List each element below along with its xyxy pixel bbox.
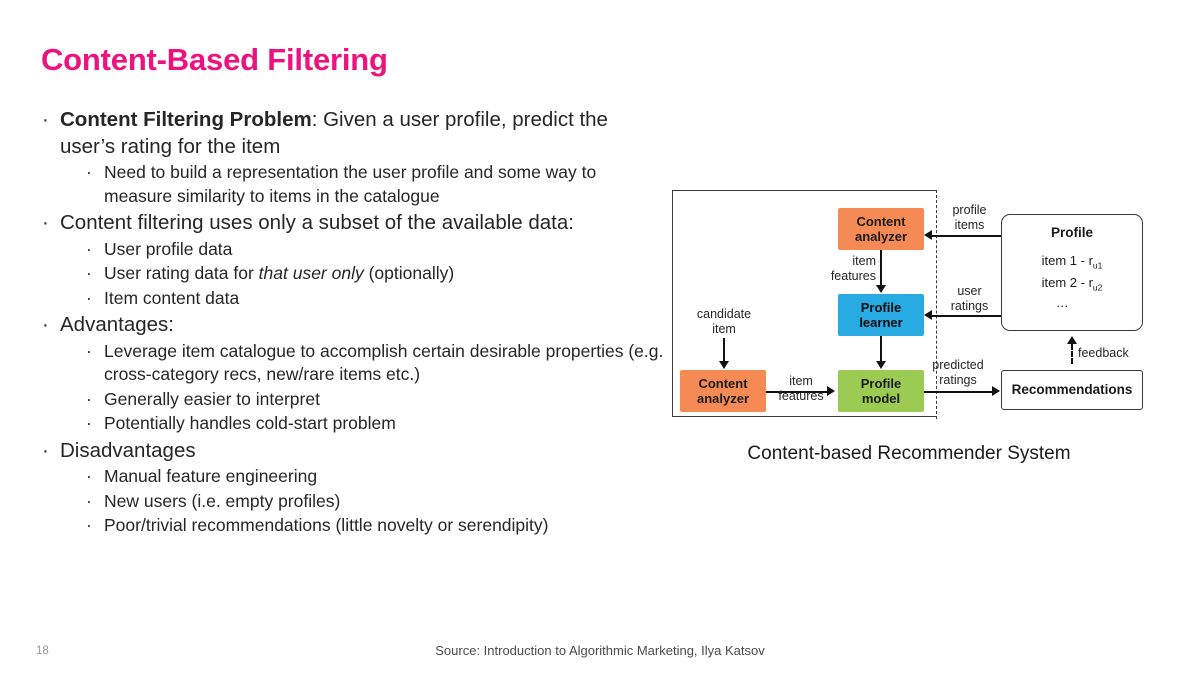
diagram-caption: Content-based Recommender System (670, 443, 1148, 465)
bullet-level2-leverage-catalogue: · Leverage item catalogue to accomplish … (36, 340, 666, 387)
profile-item-2: item 2 - ru2 (1042, 275, 1103, 290)
bullet-level2-new-users: · New users (i.e. empty profiles) (36, 490, 666, 514)
node-label-line2: learner (859, 315, 902, 331)
bullet-level2-item-content-data: · Item content data (36, 287, 666, 311)
bullet-glyph: · (86, 287, 92, 311)
node-label-line1: Content (698, 376, 747, 392)
bullet-glyph: · (42, 210, 49, 237)
bullet-glyph: · (86, 340, 92, 364)
bullet-text: Disadvantages (60, 439, 196, 462)
bullet-text: Content filtering uses only a subset of … (60, 211, 574, 234)
arrow-profile-learner-to-profile-model-head (876, 361, 886, 369)
arrow-feedback-head (1067, 336, 1077, 344)
bullet-text: Generally easier to interpret (104, 389, 320, 409)
node-label-line1: Content (856, 214, 905, 230)
bullet-level2-user-rating-data: · User rating data for that user only (o… (36, 262, 666, 286)
node-content-analyzer-top[interactable]: Content analyzer (838, 208, 924, 250)
bullet-level2-representation: · Need to build a representation the use… (36, 161, 666, 208)
profile-item-1-subscript: u1 (1093, 260, 1102, 270)
bullet-text: User profile data (104, 239, 232, 259)
bullet-text: Advantages: (60, 313, 174, 336)
bullet-glyph: · (42, 438, 49, 465)
arrow-profile-learner-to-profile-model-line (880, 336, 882, 362)
node-profile[interactable]: Profile item 1 - ru1 item 2 - ru2 … (1001, 214, 1143, 331)
bullet-glyph: · (42, 312, 49, 339)
arrow-user-ratings-head (924, 310, 932, 320)
arrow-feedback-line (1071, 344, 1073, 364)
edge-label-line1: item (773, 374, 829, 389)
bullet-text: New users (i.e. empty profiles) (104, 491, 340, 511)
page-title: Content-Based Filtering (41, 42, 388, 78)
edge-label-line1: candidate (685, 307, 763, 322)
bullet-level1-subset-of-data: · Content filtering uses only a subset o… (36, 210, 666, 237)
node-profile-model[interactable]: Profile model (838, 370, 924, 412)
bullet-glyph: · (86, 161, 92, 185)
profile-item-2-subscript: u2 (1093, 283, 1102, 293)
edge-label-line2: features (773, 389, 829, 404)
bullet-level1-advantages: · Advantages: (36, 312, 666, 339)
node-label-line2: analyzer (697, 391, 749, 407)
source-attribution: Source: Introduction to Algorithmic Mark… (0, 643, 1200, 658)
arrow-content-analyzer-to-profile-learner-head (876, 285, 886, 293)
bullet-level1-disadvantages: · Disadvantages (36, 438, 666, 465)
bullet-list: · Content Filtering Problem: Given a use… (36, 107, 666, 538)
bullet-glyph: · (86, 490, 92, 514)
bullet-glyph: · (86, 514, 92, 538)
bullet-glyph: · (86, 388, 92, 412)
arrow-profile-items-head (924, 230, 932, 240)
edge-label-line2: items (942, 218, 997, 233)
node-label-line1: Profile (861, 376, 901, 392)
profile-item-2-text: item 2 - r (1042, 275, 1093, 290)
edge-label-candidate-item: candidate item (685, 307, 763, 336)
edge-label-line2: ratings (922, 373, 994, 388)
profile-title: Profile (1051, 225, 1093, 241)
profile-items-list: item 1 - ru1 item 2 - ru2 … (1042, 252, 1103, 309)
bullet-glyph: · (42, 107, 49, 134)
edge-label-line2: features (816, 269, 876, 284)
arrow-content-analyzer-to-profile-learner-line (880, 250, 882, 286)
bullet-level2-user-profile-data: · User profile data (36, 238, 666, 262)
arrow-candidate-item-to-content-analyzer-line (723, 338, 725, 362)
bullet-text-post: (optionally) (364, 263, 454, 283)
edge-label-profile-items: profile items (942, 203, 997, 232)
edge-label-line2: item (685, 322, 763, 337)
edge-label-item-features-bottom: item features (773, 374, 829, 403)
edge-label-line1: item (816, 254, 876, 269)
edge-label-feedback: feedback (1078, 346, 1129, 361)
bullet-glyph: · (86, 465, 92, 489)
bullet-text-pre: User rating data for (104, 263, 259, 283)
arrow-predicted-ratings-line (924, 391, 993, 393)
recommender-system-diagram: Content analyzer Profile learner Profile… (670, 188, 1148, 420)
node-label-line2: model (862, 391, 900, 407)
edge-label-line1: user (942, 284, 997, 299)
arrow-profile-items-line (932, 235, 1001, 237)
bullet-level2-cold-start: · Potentially handles cold-start problem (36, 412, 666, 436)
edge-label-line1: predicted (922, 358, 994, 373)
arrow-candidate-item-to-content-analyzer-head (719, 361, 729, 369)
bullet-lead-bold: Content Filtering Problem (60, 108, 312, 131)
node-label-line2: analyzer (855, 229, 907, 245)
bullet-text: Item content data (104, 288, 239, 308)
bullet-level1-content-filtering-problem: · Content Filtering Problem: Given a use… (36, 107, 666, 160)
slide-canvas: Content-Based Filtering · Content Filter… (0, 0, 1200, 675)
profile-item-1-text: item 1 - r (1042, 253, 1093, 268)
bullet-text: Leverage item catalogue to accomplish ce… (104, 341, 663, 385)
node-content-analyzer-bottom[interactable]: Content analyzer (680, 370, 766, 412)
edge-label-predicted-ratings: predicted ratings (922, 358, 994, 387)
bullet-level2-easier-to-interpret: · Generally easier to interpret (36, 388, 666, 412)
bullet-text: Poor/trivial recommendations (little nov… (104, 515, 548, 535)
profile-item-1: item 1 - ru1 (1042, 253, 1103, 268)
arrow-predicted-ratings-head (992, 386, 1000, 396)
bullet-text: Potentially handles cold-start problem (104, 413, 396, 433)
bullet-text: Need to build a representation the user … (104, 162, 596, 206)
bullet-glyph: · (86, 262, 92, 286)
node-profile-learner[interactable]: Profile learner (838, 294, 924, 336)
arrow-user-ratings-line (932, 315, 1001, 317)
node-label-line1: Profile (861, 300, 901, 316)
bullet-text: Manual feature engineering (104, 466, 317, 486)
bullet-level2-poor-trivial-recs: · Poor/trivial recommendations (little n… (36, 514, 666, 538)
bullet-glyph: · (86, 238, 92, 262)
profile-items-ellipsis: … (1042, 297, 1103, 309)
bullet-glyph: · (86, 412, 92, 436)
edge-label-user-ratings: user ratings (942, 284, 997, 313)
node-recommendations[interactable]: Recommendations (1001, 370, 1143, 410)
edge-label-line2: ratings (942, 299, 997, 314)
edge-label-line1: profile (942, 203, 997, 218)
bullet-text-italic: that user only (259, 263, 364, 283)
bullet-level2-manual-feature-engineering: · Manual feature engineering (36, 465, 666, 489)
edge-label-item-features-top: item features (816, 254, 876, 283)
node-label: Recommendations (1012, 382, 1133, 398)
